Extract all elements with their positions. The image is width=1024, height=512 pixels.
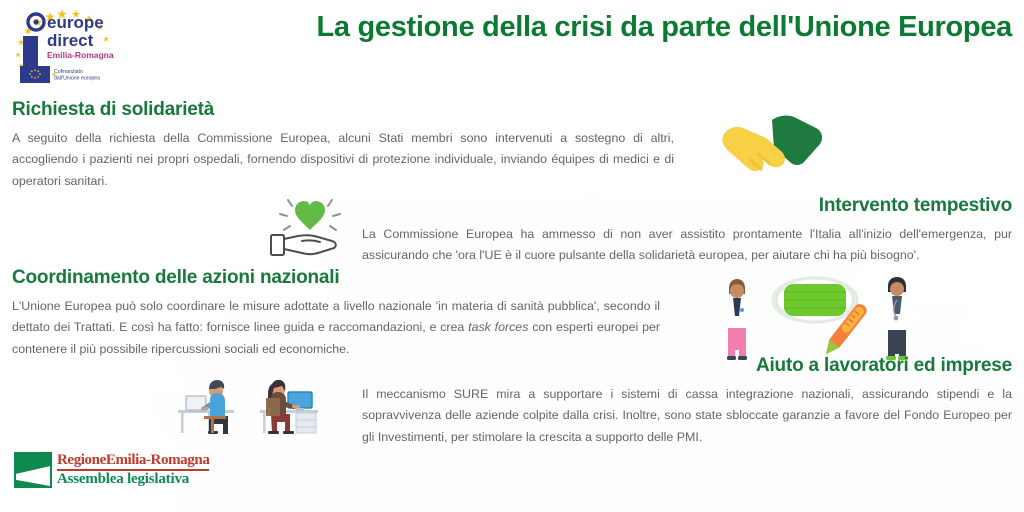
regione-emilia-romagna-logo: RegioneEmilia-Romagna Assemblea legislat… — [14, 452, 209, 488]
ed-region: Emilia-Romagna — [47, 50, 114, 60]
section-richiesta-di-solidarieta: Richiesta di solidarietà A seguito della… — [12, 100, 674, 192]
surgical-mask-icon — [773, 278, 857, 322]
section-intervento-tempestivo: Intervento tempestivo La Commissione Eur… — [362, 196, 1012, 267]
page-title: La gestione della crisi da parte dell'Un… — [300, 10, 1012, 45]
doctor-male-icon — [881, 277, 914, 360]
handshake-icon — [712, 104, 832, 192]
desk-workers-icon — [168, 372, 328, 438]
section-body-coordinamento: L'Unione Europea può solo coordinare le … — [12, 296, 660, 360]
regione-logo-panel: RegioneEmilia-Romagna Assemblea legislat… — [0, 440, 176, 512]
ed-name-line1: europe — [47, 13, 104, 32]
worker-left-icon — [178, 380, 234, 434]
ed-funding-line2: dall'Unione europea — [54, 76, 100, 82]
section-aiuto-lavoratori-imprese: Aiuto a lavoratori ed imprese Il meccani… — [362, 356, 1012, 448]
section-heading-solidarieta: Richiesta di solidarietà — [12, 100, 674, 121]
doctor-female-icon — [725, 279, 749, 360]
ed-funding-line1: Cofinanziato — [54, 69, 83, 75]
regione-logo-line1: RegioneEmilia-Romagna — [57, 453, 209, 468]
worker-right-icon — [260, 380, 318, 434]
section-coordinamento-azioni-nazionali: Coordinamento delle azioni nazionali L'U… — [12, 268, 660, 360]
section-heading-aiuto: Aiuto a lavoratori ed imprese — [362, 356, 1012, 377]
hand-icon — [271, 235, 336, 255]
regione-logo-mark-icon — [14, 452, 52, 488]
doctors-mask-thermometer-icon — [700, 272, 930, 364]
infographic-canvas: europe direct Emilia-Romagna Cofinanziat… — [0, 0, 1024, 512]
section-heading-intervento: Intervento tempestivo — [362, 196, 1012, 217]
europe-direct-logo: europe direct Emilia-Romagna Cofinanziat… — [10, 6, 128, 84]
hand-holding-heart-icon — [258, 192, 362, 264]
section-body-intervento: La Commissione Europea ha ammesso di non… — [362, 224, 1012, 267]
section-body-solidarieta: A seguito della richiesta della Commissi… — [12, 128, 674, 192]
eu-flag-icon — [20, 66, 50, 83]
regione-logo-line2: Assemblea legislativa — [57, 472, 209, 487]
heart-icon — [295, 201, 325, 230]
section-heading-coordinamento: Coordinamento delle azioni nazionali — [12, 268, 660, 289]
section-body-aiuto: Il meccanismo SURE mira a supportare i s… — [362, 384, 1012, 448]
ed-name-line2: direct — [47, 31, 94, 50]
coordinamento-text-italic: task forces — [468, 320, 528, 334]
